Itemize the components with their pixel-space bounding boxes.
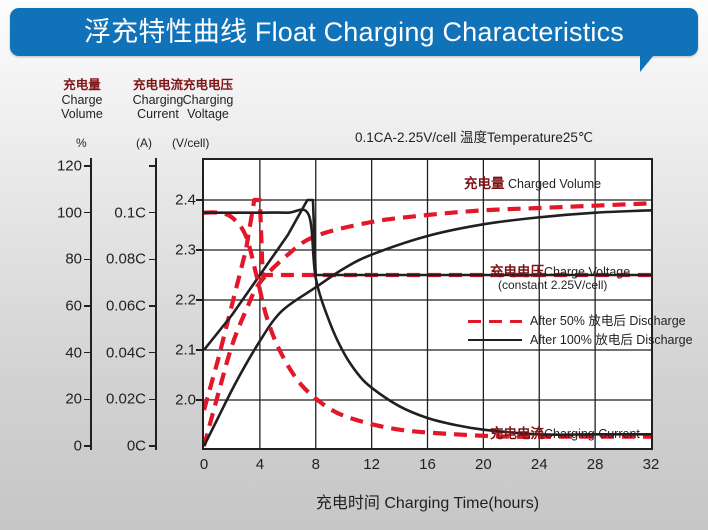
annotation-charging-current-en: Charging Current [544, 427, 640, 441]
yaxis-charging-voltage-tick-label: 2.1 [158, 342, 196, 359]
axis-header-en-line1: Charge [44, 93, 120, 108]
page-title: 浮充特性曲线 Float Charging Characteristics [10, 8, 698, 56]
yaxis-charging-current-tick-label: 0.02C [96, 391, 146, 408]
axis-header-cn: 充电量 [44, 78, 120, 93]
chart-plot-area [202, 158, 653, 450]
yaxis-charge-volume-tick [84, 445, 91, 447]
yaxis-charging-current-tick [149, 445, 156, 447]
yaxis-charge-volume-tick-label: 80 [34, 251, 82, 268]
yaxis-charging-current-tick [149, 352, 156, 354]
unit-charging-current: (A) [136, 136, 152, 150]
yaxis-charging-current-tick [149, 259, 156, 261]
annotation-charge-voltage-cn: 充电电压 [490, 264, 544, 279]
yaxis-charging-voltage-tick-label: 2.2 [158, 292, 196, 309]
legend-swatch-dashed-icon [468, 320, 522, 323]
annotation-charge-voltage-en: Charge Voltage [544, 265, 630, 279]
yaxis-charging-voltage-tick-label: 2.0 [158, 392, 196, 409]
yaxis-charge-volume-tick [84, 352, 91, 354]
annotation-charged-volume: 充电量 Charged Volume [464, 172, 601, 192]
yaxis-charge-volume-line [90, 158, 92, 450]
yaxis-charge-volume-tick-label: 0 [34, 438, 82, 455]
yaxis-charge-volume-tick [84, 399, 91, 401]
yaxis-charge-volume-tick-label: 40 [34, 344, 82, 361]
axis-header-charging-voltage: 充电电压 Charging Voltage [168, 78, 248, 122]
axis-header-en-line2: Volume [44, 107, 120, 122]
annotation-charged-volume-en: Charged Volume [508, 177, 601, 191]
annotation-charge-voltage: 充电电压Charge Voltage [490, 260, 630, 280]
unit-charge-volume: % [76, 136, 87, 150]
yaxis-charge-volume-tick-label: 20 [34, 391, 82, 408]
annotation-charging-current: 充电电流Charging Current [490, 422, 640, 442]
xaxis-tick-label: 4 [256, 456, 264, 473]
chart-curves [204, 160, 651, 448]
xaxis-tick-label: 24 [531, 456, 548, 473]
yaxis-charge-volume-tick [84, 259, 91, 261]
xaxis-tick-label: 0 [200, 456, 208, 473]
xaxis-tick-label: 12 [363, 456, 380, 473]
yaxis-charging-current-tick-label: 0.08C [96, 251, 146, 268]
annotation-charged-volume-cn: 充电量 [464, 176, 505, 191]
yaxis-charging-current-tick [149, 165, 156, 167]
xaxis-tick-label: 8 [312, 456, 320, 473]
yaxis-charge-volume-tick-label: 100 [34, 204, 82, 221]
yaxis-charge-volume-tick-label: 120 [34, 158, 82, 175]
yaxis-charge-volume-tick [84, 165, 91, 167]
yaxis-charging-current-tick-label: 0.04C [96, 344, 146, 361]
xaxis-tick-label: 28 [587, 456, 604, 473]
annotation-charge-voltage-note: (constant 2.25V/cell) [498, 278, 607, 292]
legend-label: After 50% 放电后 Discharge [530, 312, 686, 331]
xaxis-title: 充电时间 Charging Time(hours) [202, 489, 653, 513]
legend-label: After 100% 放电后 Discharge [530, 331, 693, 350]
title-banner-tail [640, 55, 654, 72]
yaxis-charge-volume-tick-label: 60 [34, 298, 82, 315]
yaxis-charging-current-tick [149, 305, 156, 307]
xaxis-tick-label: 32 [643, 456, 660, 473]
axis-header-charge-volume: 充电量 Charge Volume [44, 78, 120, 122]
chart-conditions: 0.1CA-2.25V/cell 温度Temperature25℃ [355, 126, 593, 146]
yaxis-charging-current-tick-label: 0C [96, 438, 146, 455]
axis-header-cn: 充电电压 [168, 78, 248, 93]
xaxis-tick-label: 20 [475, 456, 492, 473]
yaxis-charging-current-tick-label: 0.06C [96, 298, 146, 315]
yaxis-charging-current-tick [149, 212, 156, 214]
yaxis-charging-voltage-tick-label: 2.3 [158, 242, 196, 259]
xaxis-tick-label: 16 [419, 456, 436, 473]
axis-header-en-line2: Voltage [168, 107, 248, 122]
annotation-charging-current-cn: 充电电流 [490, 426, 544, 441]
legend-swatch-solid-icon [468, 339, 522, 341]
yaxis-charging-current-line [155, 158, 157, 450]
unit-charging-voltage: (V/cell) [172, 136, 209, 150]
yaxis-charging-voltage-tick-label: 2.4 [158, 192, 196, 209]
yaxis-charging-current-tick-label: 0.1C [96, 204, 146, 221]
yaxis-charge-volume-tick [84, 305, 91, 307]
yaxis-charging-current-tick [149, 399, 156, 401]
yaxis-charge-volume-tick [84, 212, 91, 214]
axis-header-en-line1: Charging [168, 93, 248, 108]
